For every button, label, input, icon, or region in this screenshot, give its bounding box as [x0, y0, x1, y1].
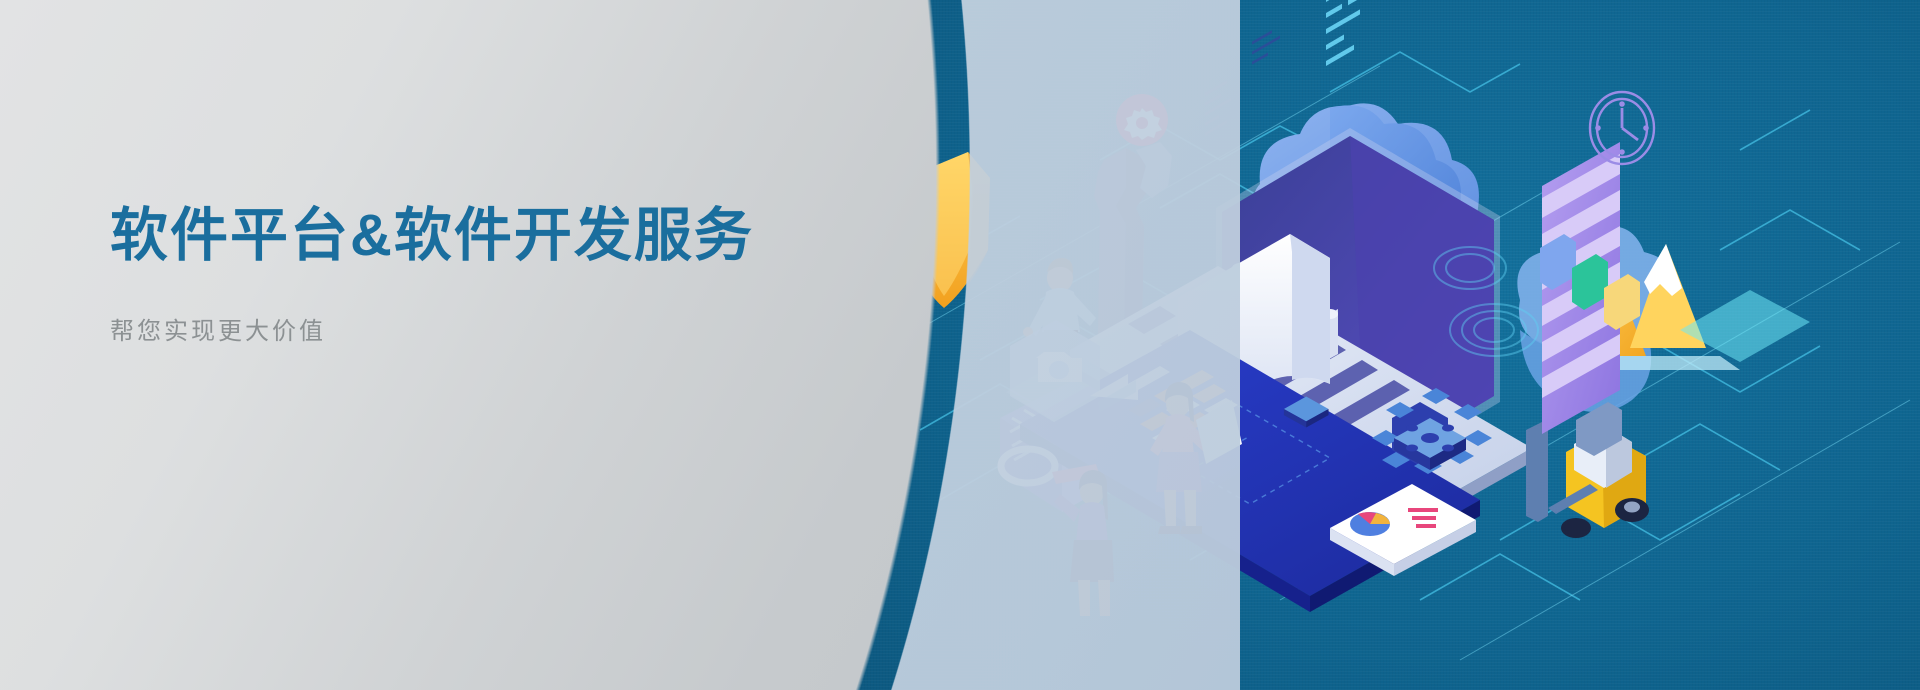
hero-banner: 软件平台&软件开发服务 帮您实现更大价值: [0, 0, 1920, 690]
clock-icon: [1590, 92, 1654, 164]
page-title: 软件平台&软件开发服务: [110, 200, 754, 273]
page-subtitle: 帮您实现更大价值: [110, 311, 754, 346]
code-lines-right: [1326, 0, 1372, 66]
copy-block: 软件平台&软件开发服务 帮您实现更大价值: [110, 200, 754, 346]
